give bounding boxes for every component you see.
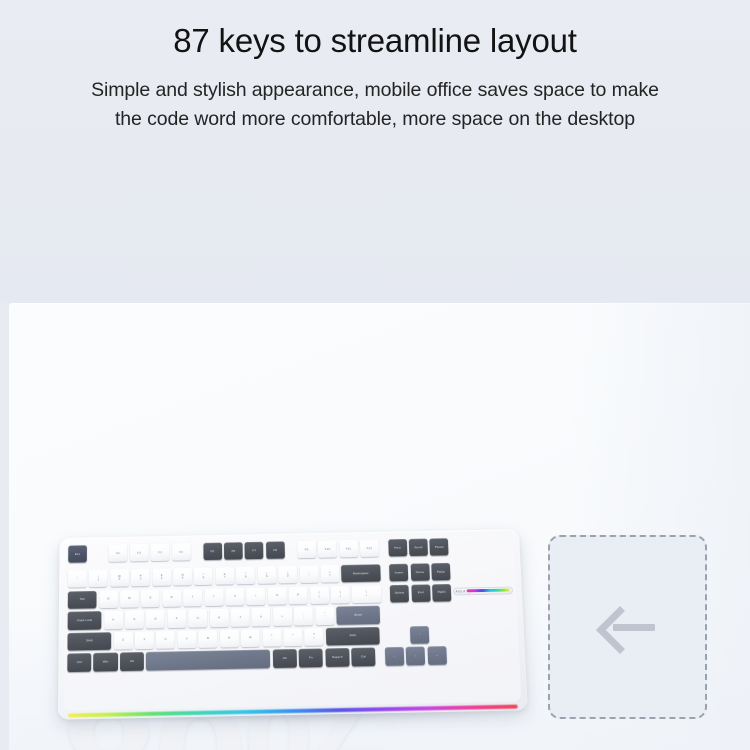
- key-label: SuperX: [332, 656, 343, 659]
- key-label: F6: [231, 550, 235, 553]
- key-label: $4: [161, 574, 163, 581]
- key-space[interactable]: ?/: [304, 628, 323, 646]
- key-label: F1: [116, 552, 120, 555]
- key-label: Home: [416, 571, 425, 574]
- key-pgup[interactable]: PgUp: [431, 563, 450, 581]
- key-label: B: [207, 637, 209, 640]
- key-z[interactable]: Z: [114, 632, 133, 650]
- key-c[interactable]: C: [156, 631, 175, 649]
- key-label: @2: [118, 575, 121, 582]
- key-label: Print: [394, 546, 401, 549]
- key-label: PgUp: [437, 570, 445, 573]
- key-label: X: [143, 639, 145, 642]
- key-shift[interactable]: Shift: [67, 632, 111, 651]
- key-label: ←: [393, 655, 396, 658]
- key-o[interactable]: O: [268, 587, 287, 605]
- key-label: F7: [252, 549, 256, 552]
- key-label: Z: [122, 639, 124, 642]
- key-label: O: [276, 594, 279, 597]
- key-label: :;: [303, 613, 304, 620]
- brand-rgb-strip: [467, 589, 509, 593]
- key-space[interactable]: ↑: [410, 626, 429, 644]
- key-label: A: [112, 618, 114, 621]
- key-label: R: [170, 596, 172, 599]
- key-scroll[interactable]: Scroll: [409, 539, 428, 557]
- key-space[interactable]: [146, 650, 270, 670]
- key-u[interactable]: U: [225, 588, 244, 606]
- key-shift[interactable]: Shift: [326, 627, 380, 646]
- key-5[interactable]: %5: [173, 568, 192, 586]
- key-space[interactable]: "': [315, 607, 334, 625]
- key-label: ↑: [419, 633, 421, 636]
- key-label: E: [149, 597, 151, 600]
- key-home[interactable]: Home: [410, 563, 429, 581]
- key-end[interactable]: End: [411, 584, 430, 602]
- key-label: F5: [210, 550, 214, 553]
- key-pgdn[interactable]: PgDn: [432, 584, 451, 602]
- key-0[interactable]: )0: [278, 566, 297, 584]
- key-label: Win: [103, 661, 109, 664]
- key-f7[interactable]: F7: [245, 542, 264, 560]
- key-m[interactable]: M: [241, 629, 260, 647]
- key-pause[interactable]: Pause: [430, 538, 449, 556]
- key-f1[interactable]: F1: [109, 544, 128, 562]
- key-label: Alt: [130, 660, 134, 663]
- key-f4[interactable]: F4: [172, 543, 191, 561]
- header-section: 87 keys to streamline layout Simple and …: [0, 0, 750, 303]
- key-label: →: [435, 654, 438, 657]
- key-label: F: [176, 617, 178, 620]
- key-label: PgDn: [438, 591, 446, 594]
- key-f3[interactable]: F3: [151, 544, 170, 562]
- image-placeholder-box[interactable]: [548, 535, 707, 719]
- key-space[interactable]: {[: [310, 586, 329, 604]
- key-j[interactable]: J: [231, 608, 250, 626]
- key-label: D: [154, 618, 156, 621]
- key-space[interactable]: +=: [320, 565, 339, 583]
- key-b[interactable]: B: [199, 630, 218, 648]
- page-subtitle: Simple and stylish appearance, mobile of…: [0, 76, 750, 134]
- key-w[interactable]: W: [120, 590, 139, 608]
- key-g[interactable]: G: [188, 609, 207, 627]
- key-label: &7: [224, 573, 226, 580]
- key-fn[interactable]: Fn: [299, 649, 323, 667]
- key-6[interactable]: ^6: [194, 568, 213, 586]
- mechanical-keyboard[interactable]: EscF1F2F3F4F5F6F7F8F9F10F11F12PrintScrol…: [58, 529, 528, 720]
- key-label: K: [260, 615, 262, 618]
- key-win[interactable]: Win: [94, 653, 118, 671]
- key-k[interactable]: K: [252, 608, 271, 626]
- key-alt[interactable]: Alt: [273, 649, 297, 667]
- key-label: V: [186, 638, 188, 641]
- key-8[interactable]: *8: [236, 567, 255, 585]
- key-f12[interactable]: F12: [360, 540, 379, 558]
- key-caps-lock[interactable]: Caps Lock: [68, 611, 102, 629]
- key-label: #3: [140, 574, 142, 581]
- key-a[interactable]: A: [104, 611, 123, 629]
- key-2[interactable]: @2: [110, 569, 129, 587]
- key-space[interactable]: }]: [331, 586, 350, 604]
- key-1[interactable]: !1: [89, 570, 108, 588]
- key-r[interactable]: R: [162, 589, 181, 607]
- key-print[interactable]: Print: [388, 539, 407, 557]
- key-superx[interactable]: SuperX: [325, 648, 349, 666]
- key-label: G: [197, 617, 200, 620]
- key-label: }]: [340, 591, 341, 598]
- key-delete[interactable]: Delete: [390, 584, 409, 602]
- key-e[interactable]: E: [141, 589, 160, 607]
- key-p[interactable]: P: [289, 586, 308, 604]
- key-label: C: [164, 638, 166, 641]
- key-space[interactable]: →: [427, 646, 447, 664]
- key-label: F2: [137, 551, 141, 554]
- key-i[interactable]: I: [247, 587, 266, 605]
- key-space[interactable]: ~`: [68, 570, 87, 588]
- key-label: F9: [305, 548, 309, 551]
- key-esc[interactable]: Esc: [68, 545, 87, 563]
- key-label: Scroll: [414, 546, 422, 549]
- key-label: S: [133, 618, 135, 621]
- key-label: F4: [179, 551, 183, 554]
- key-s[interactable]: S: [125, 610, 144, 628]
- key-label: ?/: [313, 633, 315, 640]
- key-alt[interactable]: Alt: [120, 652, 144, 670]
- key-label: Delete: [395, 592, 404, 595]
- key-label: "': [324, 612, 325, 619]
- key-f9[interactable]: F9: [297, 541, 316, 559]
- key-space[interactable]: <,: [262, 629, 281, 647]
- key-t[interactable]: T: [183, 588, 202, 606]
- key-label: Shift: [349, 635, 356, 638]
- subtitle-line-2: the code word more comfortable, more spa…: [0, 105, 750, 134]
- key-label: T: [192, 596, 194, 599]
- key-label: W: [128, 597, 131, 600]
- key-label: Alt: [283, 657, 287, 660]
- key-label: F8: [273, 549, 277, 552]
- key-label: J: [239, 616, 241, 619]
- key-label: )0: [287, 571, 289, 578]
- key-label: Shift: [86, 640, 93, 643]
- key-label: Esc: [75, 553, 80, 556]
- key-ctrl[interactable]: Ctrl: [67, 653, 91, 671]
- key-label: Fn: [309, 656, 313, 659]
- key-f2[interactable]: F2: [130, 544, 149, 562]
- key-space[interactable]: >.: [283, 628, 302, 646]
- key-label: N: [228, 637, 230, 640]
- key-label: P: [297, 594, 299, 597]
- key-label: !1: [98, 575, 100, 582]
- key-label: F10: [325, 548, 331, 551]
- key-label: Pause: [435, 545, 444, 548]
- key-space[interactable]: _-: [299, 565, 318, 583]
- key-x[interactable]: X: [135, 631, 154, 649]
- page-title: 87 keys to streamline layout: [0, 22, 750, 60]
- key-f5[interactable]: F5: [203, 543, 222, 561]
- key-label: Caps Lock: [77, 619, 92, 622]
- key-f[interactable]: F: [167, 610, 186, 628]
- key-3[interactable]: #3: [131, 569, 150, 587]
- key-label: L: [282, 615, 284, 618]
- brand-label: AULA: [455, 589, 465, 593]
- key-7[interactable]: &7: [215, 567, 234, 585]
- key-h[interactable]: H: [210, 609, 229, 627]
- key-q[interactable]: Q: [99, 590, 118, 608]
- key-label: Q: [107, 598, 109, 601]
- key-label: Tab: [80, 598, 85, 601]
- key-v[interactable]: V: [177, 630, 196, 648]
- subtitle-line-1: Simple and stylish appearance, mobile of…: [0, 76, 750, 105]
- key-label: ↓: [415, 654, 417, 657]
- key-f6[interactable]: F6: [224, 542, 243, 560]
- product-feature-slide: 87 keys to streamline layout Simple and …: [0, 0, 750, 750]
- key-label: {[: [319, 592, 320, 599]
- key-label: Ctrl: [77, 661, 82, 664]
- aula-brand-badge: AULA: [452, 587, 512, 595]
- key-d[interactable]: D: [146, 610, 165, 628]
- arrow-head: [595, 606, 643, 654]
- key-insert[interactable]: Insert: [389, 564, 408, 582]
- key-space[interactable]: ←: [385, 647, 404, 665]
- key-label: *8: [245, 572, 247, 579]
- key-label: (9: [266, 572, 268, 579]
- key-f11[interactable]: F11: [339, 540, 358, 558]
- key-space[interactable]: :;: [294, 607, 313, 625]
- key-l[interactable]: L: [273, 607, 292, 625]
- key-label: +=: [329, 571, 331, 578]
- key-label: F11: [346, 547, 351, 550]
- key-n[interactable]: N: [220, 629, 239, 647]
- key-label: End: [418, 591, 424, 594]
- key-4[interactable]: $4: [152, 568, 171, 586]
- key-9[interactable]: (9: [257, 566, 276, 584]
- key-y[interactable]: Y: [204, 588, 223, 606]
- key-label: |\: [366, 591, 367, 598]
- key-backspace[interactable]: Backspace: [341, 564, 380, 582]
- key-label: ~`: [76, 576, 78, 583]
- key-label: F3: [158, 551, 162, 554]
- arrow-left-icon: [599, 605, 657, 649]
- key-label: <,: [271, 634, 273, 641]
- key-label: >.: [292, 634, 294, 641]
- key-space[interactable]: ↓: [406, 647, 425, 665]
- key-label: Enter: [354, 613, 362, 616]
- key-label: H: [218, 616, 220, 619]
- key-label: Insert: [395, 571, 403, 574]
- key-label: %5: [181, 573, 184, 580]
- key-label: M: [249, 637, 252, 640]
- key-space[interactable]: |\: [352, 585, 381, 603]
- key-label: _-: [308, 571, 310, 578]
- key-tab[interactable]: Tab: [68, 590, 97, 608]
- key-label: I: [256, 595, 257, 598]
- key-f10[interactable]: F10: [318, 540, 337, 558]
- key-label: F12: [367, 547, 373, 550]
- key-label: ^6: [203, 573, 205, 580]
- key-label: Backspace: [353, 572, 369, 575]
- key-enter[interactable]: Enter: [336, 606, 380, 625]
- key-f8[interactable]: F8: [266, 541, 285, 559]
- key-label: Y: [213, 596, 215, 599]
- key-label: Ctrl: [361, 655, 366, 658]
- key-ctrl[interactable]: Ctrl: [351, 648, 375, 666]
- key-label: U: [234, 595, 236, 598]
